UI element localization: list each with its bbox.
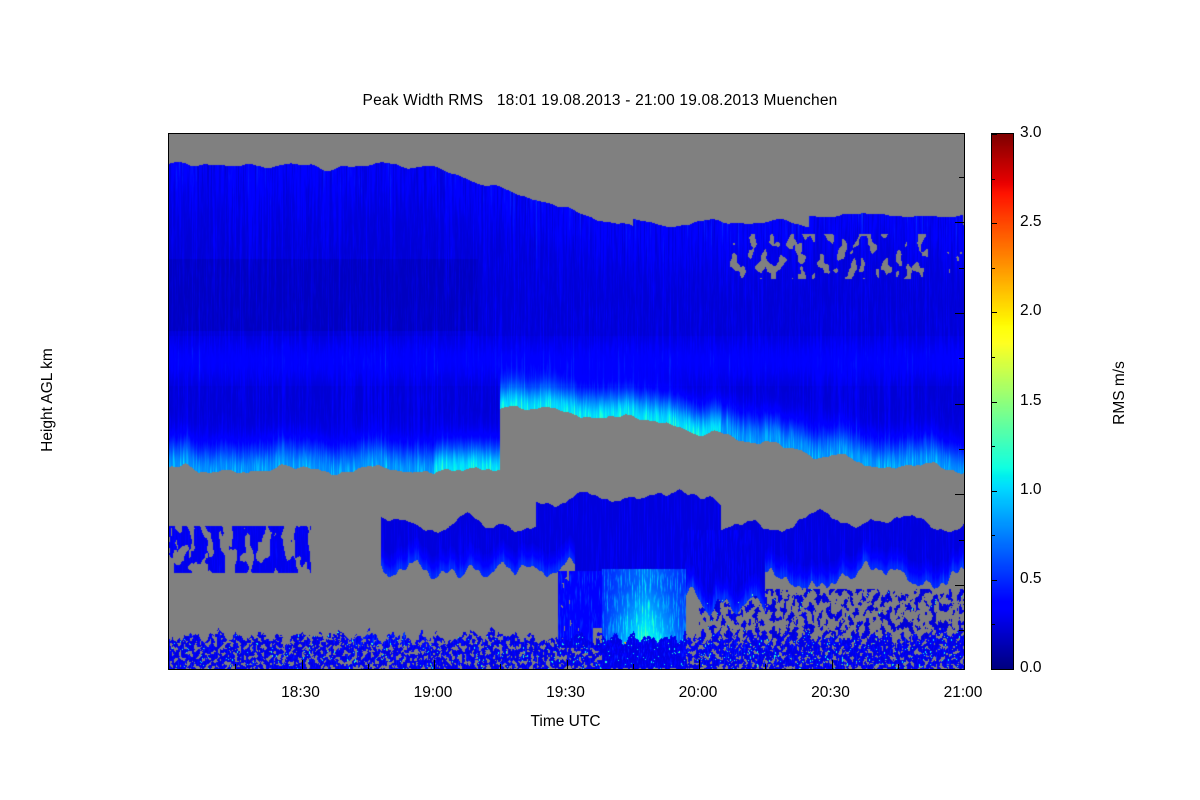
- colorbar-minor-tick: [992, 179, 995, 180]
- colorbar-tick: [992, 402, 997, 403]
- colorbar-tick: [992, 580, 997, 581]
- x-tick-label: 21:00: [944, 684, 983, 702]
- colorbar-title: RMS m/s: [1111, 293, 1129, 493]
- colorbar-minor-tick: [992, 446, 995, 447]
- colorbar-tick-label: 0.5: [1020, 570, 1042, 588]
- colorbar[interactable]: [991, 133, 1014, 670]
- colorbar-minor-tick: [992, 357, 995, 358]
- x-tick-label: 19:30: [546, 684, 585, 702]
- colorbar-tick-label: 3.0: [1020, 124, 1042, 142]
- colorbar-minor-tick: [992, 268, 995, 269]
- x-tick-label: 20:00: [679, 684, 718, 702]
- colorbar-tick-label: 1.5: [1020, 392, 1042, 410]
- colorbar-minor-tick: [992, 624, 995, 625]
- x-axis-title: Time UTC: [168, 713, 963, 731]
- colorbar-minor-tick: [992, 535, 995, 536]
- y-axis-title: Height AGL km: [39, 300, 57, 500]
- x-tick-label: 20:30: [811, 684, 850, 702]
- colorbar-tick: [992, 134, 997, 135]
- figure-canvas: Peak Width RMS 18:01 19.08.2013 - 21:00 …: [0, 0, 1200, 800]
- colorbar-tick: [992, 312, 997, 313]
- colorbar-tick-label: 0.0: [1020, 659, 1042, 677]
- x-tick-label: 18:30: [281, 684, 320, 702]
- colorbar-tick-label: 2.5: [1020, 213, 1042, 231]
- colorbar-tick: [992, 223, 997, 224]
- colorbar-tick: [992, 491, 997, 492]
- colorbar-tick-label: 1.0: [1020, 481, 1042, 499]
- colorbar-tick-label: 2.0: [1020, 302, 1042, 320]
- x-tick-label: 19:00: [414, 684, 453, 702]
- colorbar-tick: [992, 669, 997, 670]
